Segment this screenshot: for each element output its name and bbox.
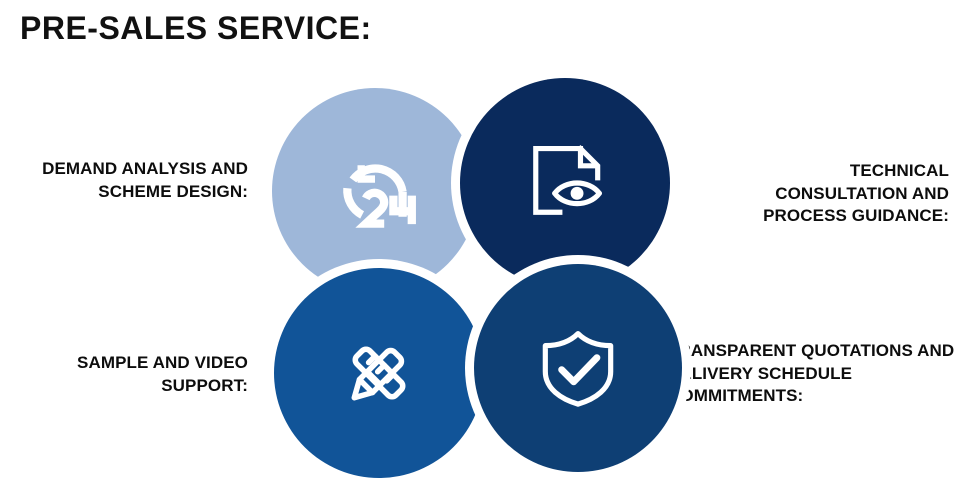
- circle-transparent-quotations[interactable]: [474, 264, 682, 472]
- circle-technical-consultation[interactable]: [460, 78, 670, 288]
- label-transparent-quotations: TRANSPARENT QUOTATIONS AND DELIVERY SCHE…: [668, 340, 960, 408]
- pencil-ruler-icon: [331, 325, 427, 421]
- infographic-canvas: PRE-SALES SERVICE:: [0, 0, 960, 498]
- label-technical-consultation: TECHNICAL CONSULTATION AND PROCESS GUIDA…: [727, 160, 949, 228]
- page-title: PRE-SALES SERVICE:: [20, 10, 372, 47]
- circle-cluster: [268, 78, 692, 494]
- label-sample-video-support: SAMPLE AND VIDEO SUPPORT:: [18, 352, 248, 397]
- 24-hour-rotation-icon: [327, 143, 423, 239]
- circle-sample-video-support[interactable]: [274, 268, 484, 478]
- document-eye-icon: [517, 135, 613, 231]
- circle-demand-analysis[interactable]: [272, 88, 478, 294]
- label-demand-analysis: DEMAND ANALYSIS AND SCHEME DESIGN:: [18, 158, 248, 203]
- shield-check-icon: [530, 320, 626, 416]
